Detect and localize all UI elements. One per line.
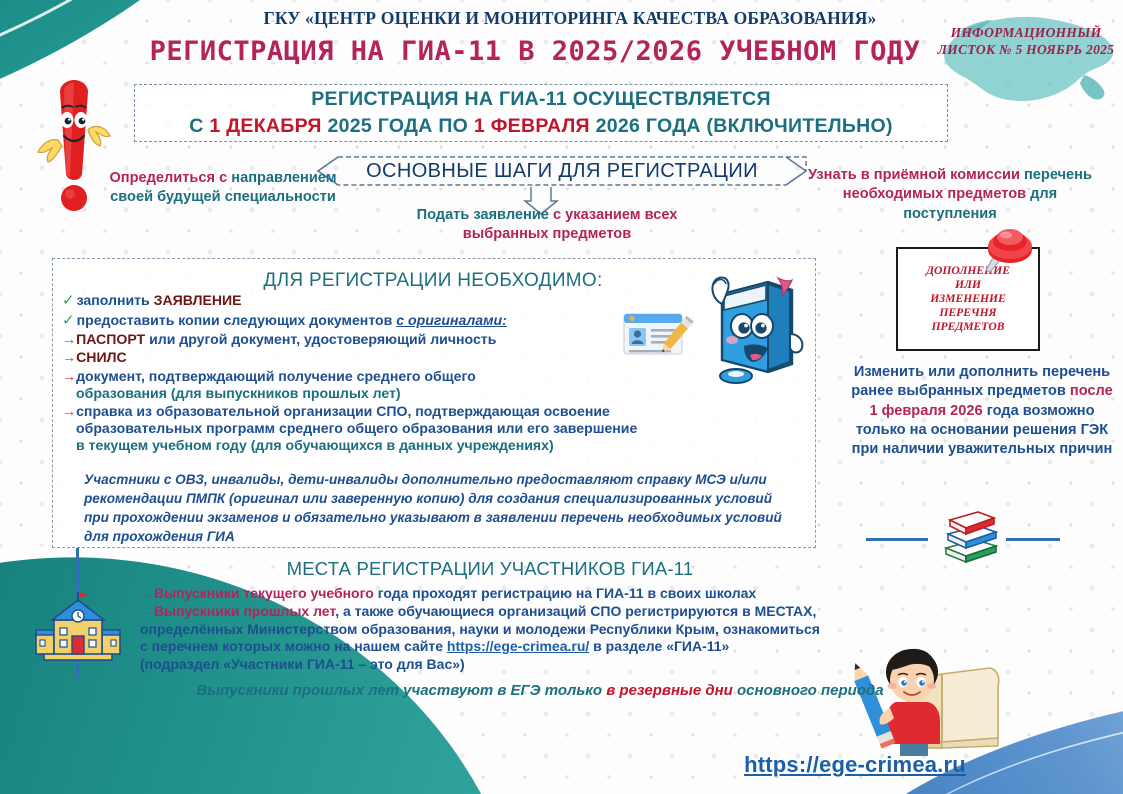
arrow-icon: → — [140, 603, 154, 619]
requirement-4-bold: СНИЛС — [76, 349, 127, 365]
places-title: МЕСТА РЕГИСТРАЦИИ УЧАСТНИКОВ ГИА-11 — [140, 558, 840, 580]
step-right-highlight: Узнать в приёмной комиссии — [808, 167, 1020, 183]
places-b2-l3-b: в разделе «ГИА-11» — [589, 638, 729, 654]
poster-canvas: ГКУ «ЦЕНТР ОЦЕНКИ И МОНИТОРИНГА КАЧЕСТВА… — [0, 0, 1123, 794]
requirement-item-2: ✓предоставить копии следующих документов… — [62, 312, 712, 330]
requirement-5-line2: образования (для выпускников прошлых лет… — [62, 385, 712, 402]
places-b2-l3-a: с перечнем которых можно на нашем сайте — [140, 638, 447, 654]
requirement-item-6: →справка из образовательной организации … — [62, 403, 712, 454]
arrow-icon: → — [62, 331, 76, 347]
registration-period-line2: С 1 ДЕКАБРЯ 2025 ГОДА ПО 1 ФЕВРАЛЯ 2026 … — [189, 115, 893, 138]
requirement-item-1: ✓заполнить ЗАЯВЛЕНИЕ — [62, 292, 712, 310]
arrow-icon: → — [62, 403, 76, 419]
requirement-6-line3: в текущем учебном году (для обучающихся … — [62, 437, 712, 454]
info-sheet-label: ИНФОРМАЦИОННЫЙ ЛИСТОК № 5 НОЯБРЬ 2025 — [930, 24, 1122, 59]
special-conditions-note: Участники с ОВЗ, инвалиды, дети-инвалиды… — [84, 470, 784, 546]
requirement-3-text: или другой документ, удостоверяющий личн… — [145, 331, 496, 347]
school-building-icon — [34, 590, 122, 664]
arrow-icon: → — [62, 349, 76, 365]
check-icon: ✓ — [62, 292, 75, 309]
page-title: РЕГИСТРАЦИЯ НА ГИА-11 В 2025/2026 УЧЕБНО… — [120, 36, 950, 67]
requirement-2-underlined: с оригиналами: — [396, 312, 507, 328]
subject-change-note: Изменить или дополнить перечень ранее вы… — [846, 363, 1118, 459]
places-b1-highlight: Выпускники текущего учебного — [154, 585, 374, 601]
id-card-pencil-icon — [618, 308, 696, 362]
registration-period-box: РЕГИСТРАЦИЯ НА ГИА-11 ОСУЩЕСТВЛЯЕТСЯ С 1… — [134, 84, 948, 142]
requirement-6-line1: справка из образовательной организации С… — [76, 403, 610, 419]
step-right-mid: перечень — [1024, 167, 1092, 183]
places-bullet-1: →Выпускники текущего учебного года прохо… — [140, 585, 930, 603]
step-mid-highlight: Подать заявление — [417, 207, 549, 223]
connector-line-horizontal-right — [866, 538, 928, 541]
requirements-list: ✓заполнить ЗАЯВЛЕНИЕ ✓предоставить копии… — [62, 292, 712, 455]
blue-book-mascot-icon — [692, 260, 810, 388]
step-left-highlight: Определиться с — [109, 170, 227, 186]
red-pushpin-icon — [970, 226, 1042, 290]
final-note-part2: основного периода — [733, 682, 884, 699]
stacked-books-icon — [934, 508, 1006, 566]
requirement-1-text: заполнить — [77, 292, 154, 308]
crimea-map-silhouette-icon — [934, 5, 1122, 113]
registration-period-line1: РЕГИСТРАЦИЯ НА ГИА-11 ОСУЩЕСТВЛЯЕТСЯ — [311, 88, 771, 111]
requirement-1-bold: ЗАЯВЛЕНИЕ — [154, 292, 242, 308]
requirement-6-line2: образовательных программ среднего общего… — [62, 420, 712, 437]
requirement-3-bold: ПАСПОРТ — [76, 331, 145, 347]
final-note-part1: Выпускники прошлых лет участвуют в ЕГЭ т… — [196, 682, 606, 699]
step-right-note: Узнать в приёмной комиссии перечень необ… — [800, 166, 1100, 224]
connector-line-horizontal-right-2 — [1006, 538, 1060, 541]
main-steps-banner: ОСНОВНЫЕ ШАГИ ДЛЯ РЕГИСТРАЦИИ — [316, 156, 808, 186]
requirement-item-4: →СНИЛС — [62, 349, 712, 366]
exclamation-mark-mascot-icon — [30, 78, 118, 220]
places-b2-line2: определённых Министерством образования, … — [140, 621, 930, 639]
places-b2-highlight: Выпускники прошлых лет — [154, 603, 335, 619]
step-mid-note: Подать заявление с указанием всех выбран… — [382, 206, 712, 245]
arrow-icon: → — [140, 585, 154, 601]
requirement-item-3: →ПАСПОРТ или другой документ, удостоверя… — [62, 331, 712, 348]
places-b1-rest: года проходят регистрацию на ГИА-11 в св… — [374, 585, 756, 601]
requirement-2-text: предоставить копии следующих документов — [77, 312, 397, 328]
footer-website-link[interactable]: https://ege-crimea.ru — [700, 752, 1010, 778]
connector-line-vertical-left — [76, 548, 79, 596]
requirement-5-line1: документ, подтверждающий получение средн… — [76, 368, 476, 384]
check-icon: ✓ — [62, 312, 75, 329]
pinbox-line-4: ПЕРЕЧНЯ — [939, 306, 996, 320]
pinbox-line-5: ПРЕДМЕТОВ — [932, 320, 1005, 334]
step-left-note: Определиться с направлением своей будуще… — [108, 169, 338, 208]
arrow-icon: → — [62, 368, 76, 384]
final-note-highlight: в резервные дни — [606, 682, 733, 699]
places-b2-rest: , а также обучающиеся организаций СПО ре… — [335, 603, 816, 619]
pinbox-line-3: ИЗМЕНЕНИЕ — [930, 292, 1005, 306]
requirement-item-5: →документ, подтверждающий получение сред… — [62, 368, 712, 402]
step-right-highlight-2: необходимых предметов — [843, 186, 1026, 202]
places-bullet-2: →Выпускники прошлых лет, а также обучающ… — [140, 603, 930, 621]
ege-crimea-link[interactable]: https://ege-crimea.ru/ — [447, 638, 589, 654]
organization-title: ГКУ «ЦЕНТР ОЦЕНКИ И МОНИТОРИНГА КАЧЕСТВА… — [190, 8, 950, 29]
main-steps-banner-label: ОСНОВНЫЕ ШАГИ ДЛЯ РЕГИСТРАЦИИ — [316, 156, 808, 186]
final-note: Выпускники прошлых лет участвуют в ЕГЭ т… — [140, 682, 940, 699]
